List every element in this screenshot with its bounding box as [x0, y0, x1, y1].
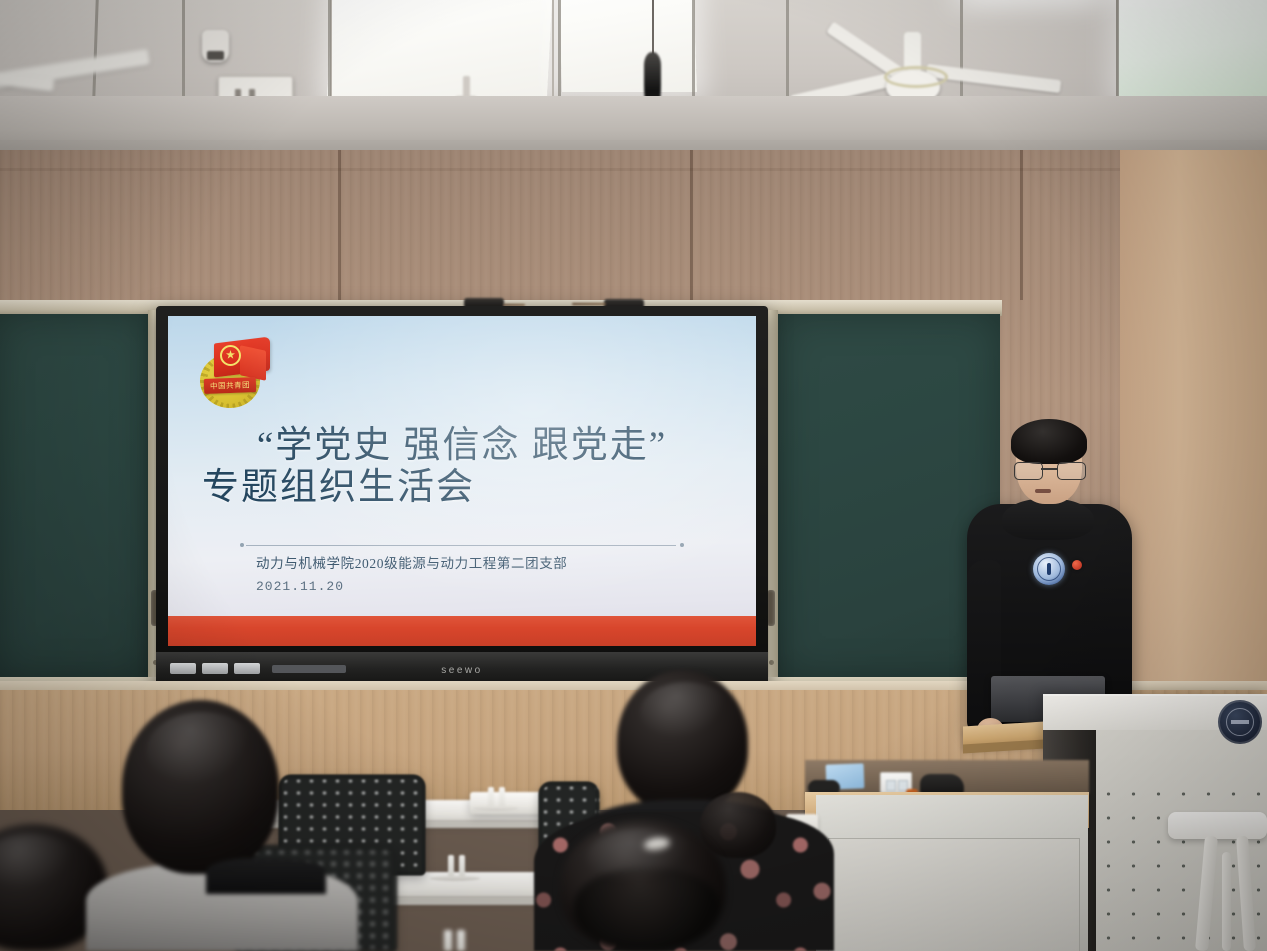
- slide-date: 2021.11.20: [256, 579, 344, 594]
- wall-joint-1: [338, 150, 341, 300]
- presenter-hood: [1002, 498, 1094, 540]
- presenter-mouth: [1035, 489, 1051, 493]
- slide-rule-dot-right: [680, 543, 684, 547]
- ceiling: [0, 0, 1267, 152]
- blackboard-panel-left: [0, 314, 150, 680]
- ceiling-panel-frame-2: [1116, 0, 1267, 104]
- presentation-slide: ★ 中国共青团 “学党史 强信念 跟党走” 专题组织生活会 动力与机械学院202…: [168, 316, 756, 646]
- presenter-glasses: [1014, 462, 1084, 478]
- presenter-hair: [1011, 419, 1087, 464]
- university-seal-emblem: [1218, 700, 1262, 744]
- desk-divider-panel: [457, 930, 465, 951]
- wall-joint-4: [0, 168, 1267, 171]
- white-stool-seat[interactable]: [1168, 812, 1267, 839]
- smoke-detector: [202, 30, 229, 62]
- communist-youth-league-emblem: ★ 中国共青团: [196, 338, 274, 408]
- slide-subtitle: 动力与机械学院2020级能源与动力工程第二团支部: [256, 552, 567, 572]
- chest-logo-figure: [1047, 563, 1051, 575]
- screen-button-3[interactable]: [234, 663, 260, 674]
- emblem-star-circle: ★: [220, 345, 241, 366]
- white-stool-leg-3: [1222, 852, 1231, 951]
- screen-button-1[interactable]: [170, 663, 196, 674]
- screen-display-area[interactable]: ★ 中国共青团 “学党史 强信念 跟党走” 专题组织生活会 动力与机械学院202…: [168, 316, 756, 646]
- bezel-indicator-bar: [272, 665, 346, 673]
- ceiling-panel-frame-1: [330, 0, 554, 106]
- student-hair-highlight: [146, 712, 258, 792]
- glasses-lens-left: [1014, 462, 1043, 480]
- red-lapel-pin: [1072, 560, 1082, 570]
- desk-divider-base: [430, 876, 480, 881]
- screen-button-2[interactable]: [202, 663, 228, 674]
- ceiling-seam-8: [1116, 0, 1119, 98]
- emblem-banner-text: 中国共青团: [204, 377, 256, 394]
- screen-brand-label: seewo: [441, 665, 482, 676]
- board-stile-screw: [769, 660, 774, 665]
- university-club-chest-logo: [1033, 553, 1065, 585]
- desk-divider-base: [474, 806, 518, 811]
- glasses-lens-right: [1057, 462, 1086, 480]
- student-hair-highlight: [586, 828, 698, 888]
- student-inner-collar: [206, 858, 326, 894]
- slide-rule-dot-left: [240, 543, 244, 547]
- classroom-photo-scene: ★ 中国共青团 “学党史 强信念 跟党走” 专题组织生活会 动力与机械学院202…: [0, 0, 1267, 951]
- board-slide-handle[interactable]: [767, 590, 775, 626]
- slide-accent-band: [168, 616, 756, 646]
- slide-divider-rule: [246, 545, 676, 546]
- emblem-banner: 中国共青团: [204, 377, 256, 394]
- hanging-microphone-wire: [652, 0, 654, 58]
- slide-title: “学党史 强信念 跟党走” 专题组织生活会: [168, 424, 756, 509]
- right-wall-column: [1120, 150, 1267, 710]
- wall-joint-3: [1020, 150, 1023, 300]
- fan-hub-ring: [884, 66, 948, 88]
- interactive-smart-whiteboard[interactable]: ★ 中国共青团 “学党史 强信念 跟党走” 专题组织生活会 动力与机械学院202…: [156, 306, 768, 686]
- ceiling-seam-3: [328, 0, 331, 100]
- ceiling-fan-left: [0, 46, 200, 92]
- supply-box-label-1: [886, 780, 896, 791]
- cabinet-door-panel[interactable]: [828, 838, 1080, 951]
- wall-joint-2: [690, 150, 693, 300]
- ceiling-seam-4: [558, 0, 561, 100]
- smoke-detector-lens: [207, 51, 224, 60]
- slide-title-line-2: 专题组织生活会: [168, 466, 756, 510]
- slide-title-line-1: “学党史 强信念 跟党走”: [257, 425, 667, 466]
- desk-divider-panel: [444, 930, 452, 951]
- emblem-red-flag-fold: [240, 345, 266, 381]
- ceiling-light-panel-2: [558, 0, 697, 92]
- ceiling-seam-5: [692, 0, 695, 100]
- student-hair-highlight: [640, 682, 732, 744]
- speaker-wire-right: [572, 303, 606, 305]
- glasses-bridge: [1041, 468, 1057, 470]
- seal-center-mark: [1231, 720, 1249, 724]
